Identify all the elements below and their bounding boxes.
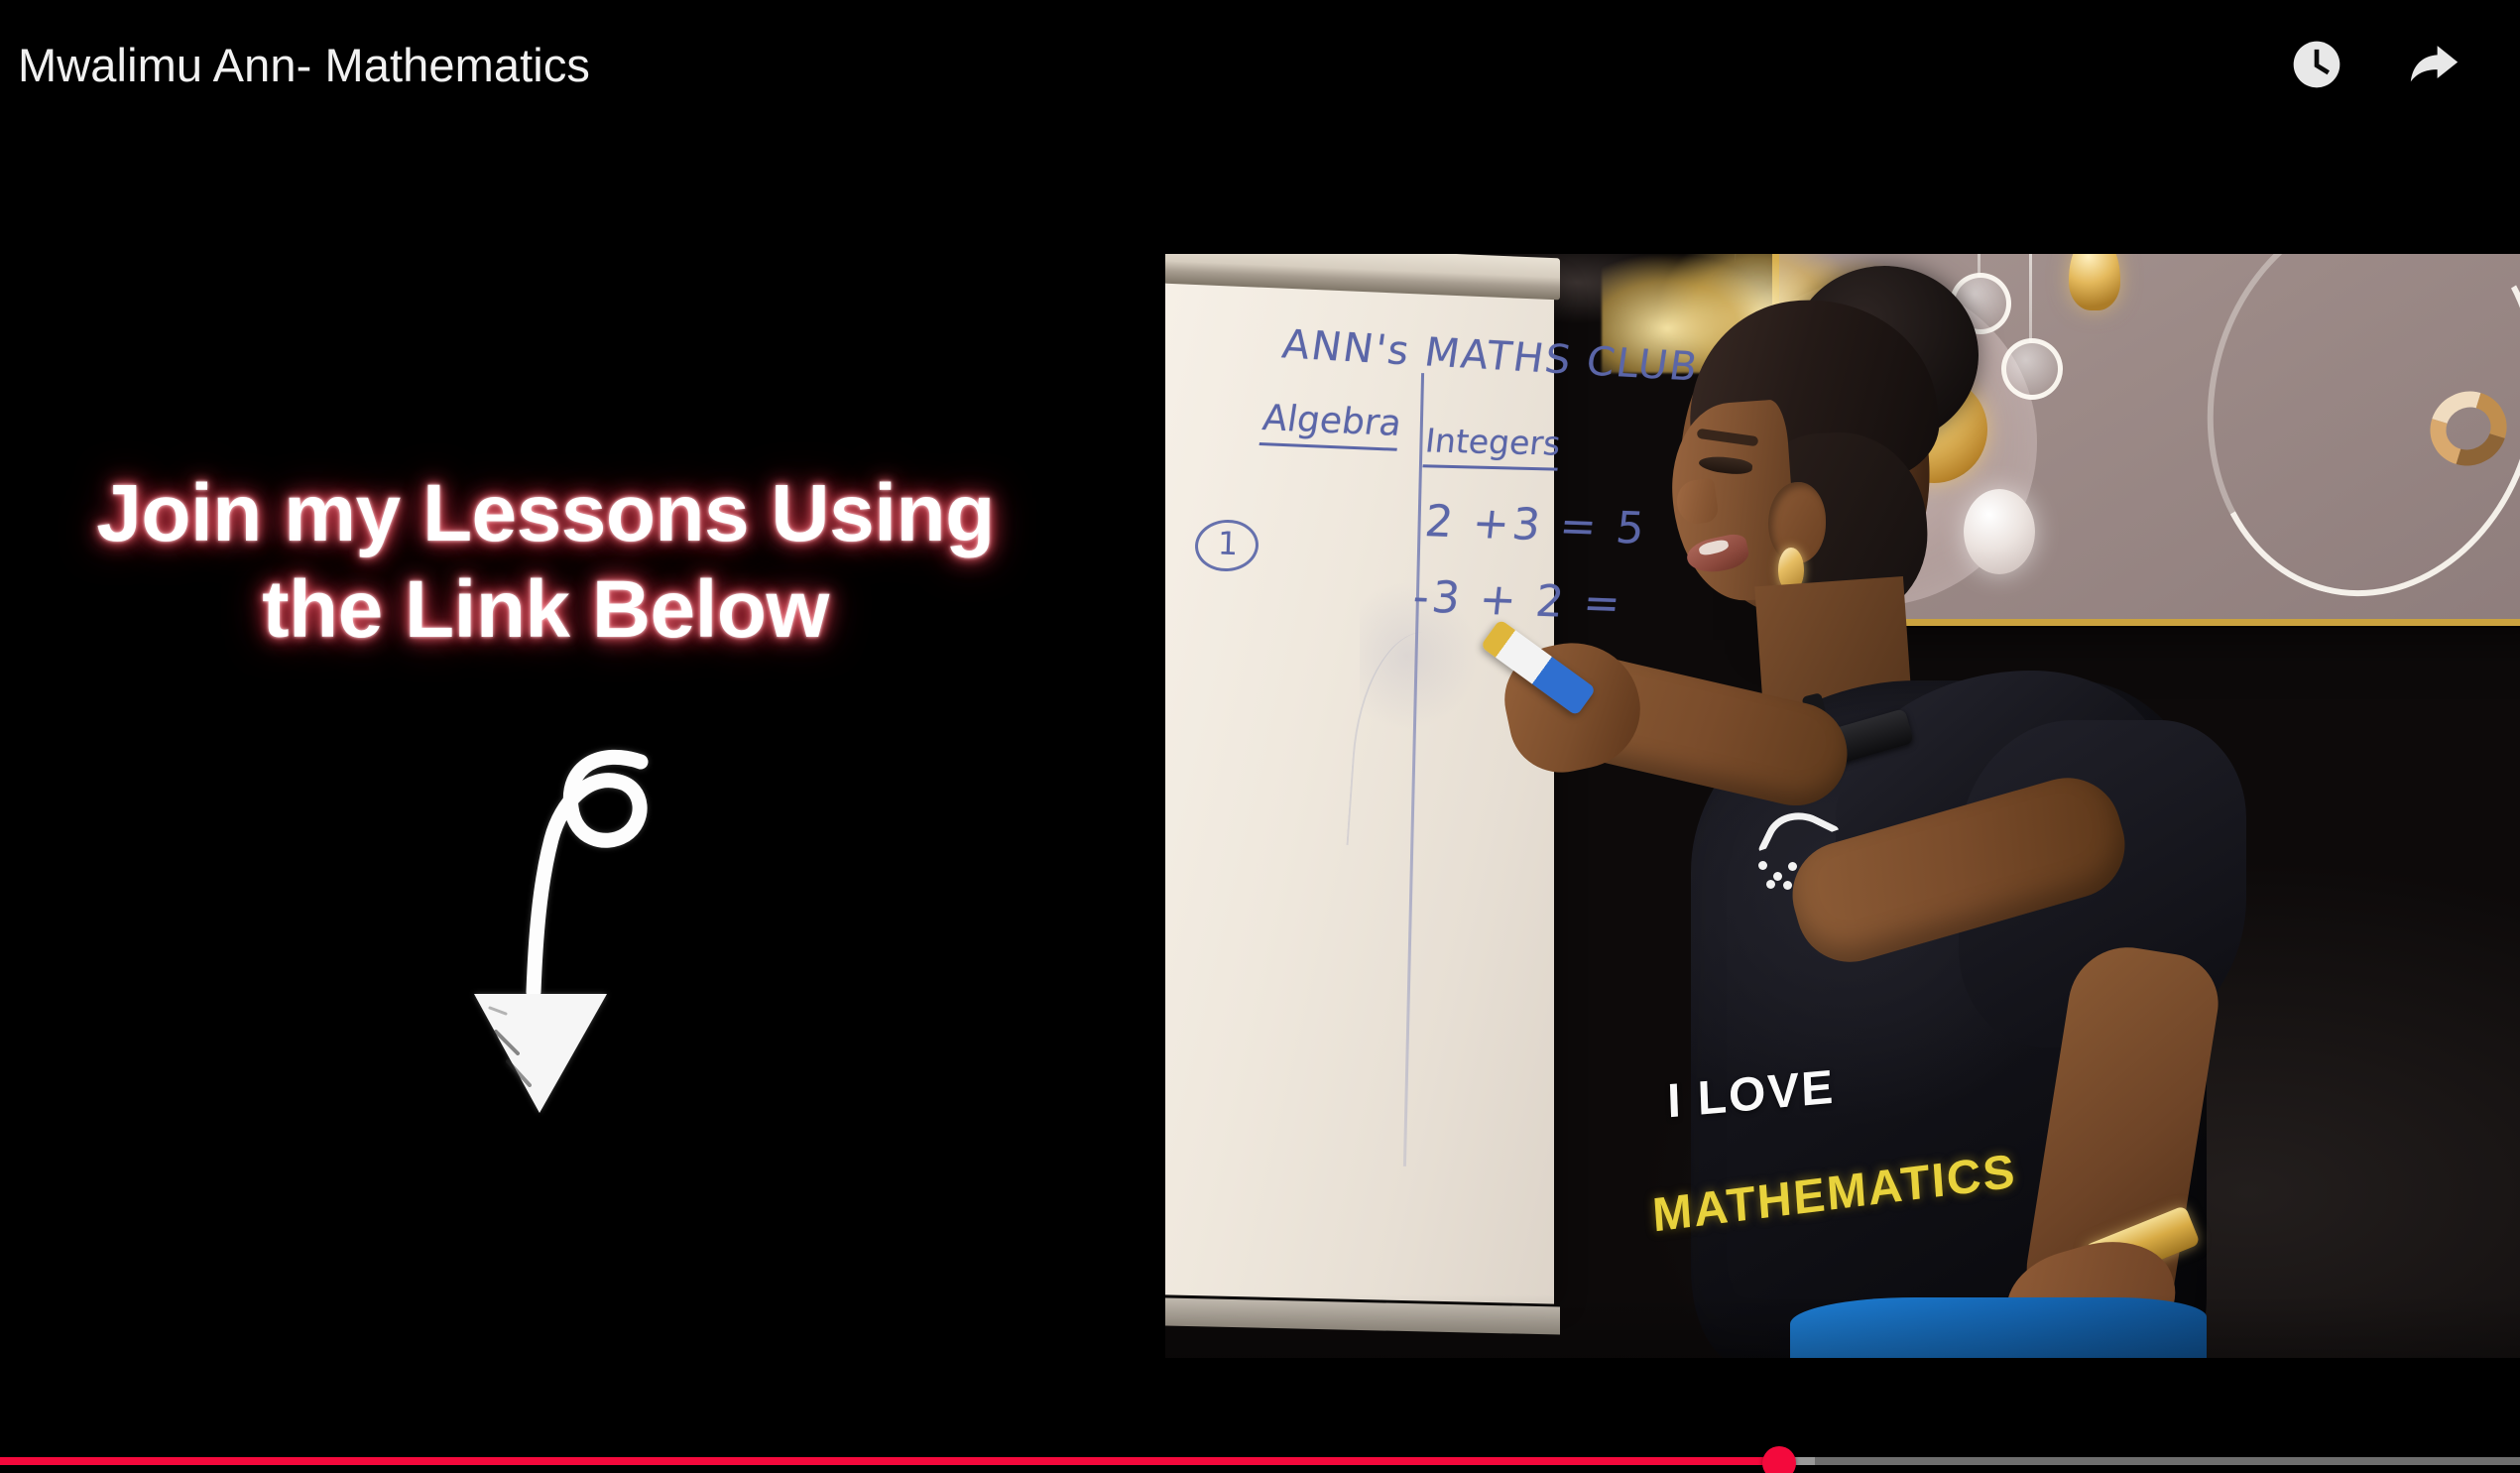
video-surface[interactable]: ANN's MATHS CLUB Algebra Integers 2 +3 =… — [0, 0, 2520, 1473]
jeans — [1790, 1297, 2207, 1358]
video-title[interactable]: Mwalimu Ann- Mathematics — [18, 38, 590, 92]
video-scene: ANN's MATHS CLUB Algebra Integers 2 +3 =… — [1165, 254, 2520, 1358]
share-button[interactable] — [2395, 26, 2472, 103]
top-actions — [2278, 26, 2520, 103]
progress-scrubber[interactable] — [1762, 1446, 1796, 1473]
watch-later-button[interactable] — [2278, 26, 2355, 103]
video-player[interactable]: ANN's MATHS CLUB Algebra Integers 2 +3 =… — [0, 0, 2520, 1473]
progress-track[interactable] — [0, 1457, 2520, 1465]
whiteboard-circled-number-label: 1 — [1217, 525, 1239, 563]
progress-played — [0, 1457, 1779, 1465]
teacher-figure: ANN'S MATHS CLUB I LOVE MATHEMATICS — [1493, 254, 2246, 1358]
whiteboard-column-title-algebra: Algebra — [1260, 398, 1404, 451]
watch-later-icon — [2289, 37, 2344, 92]
player-progress-row[interactable] — [0, 1451, 2520, 1473]
player-top-bar: Mwalimu Ann- Mathematics — [0, 0, 2520, 129]
share-icon — [2405, 36, 2462, 93]
